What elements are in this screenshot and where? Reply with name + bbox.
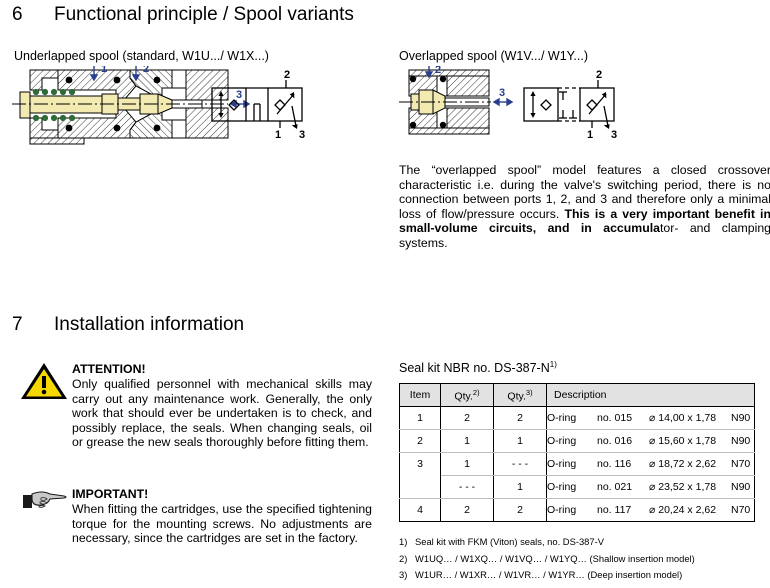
- col-item: Item: [400, 384, 441, 407]
- cell-no: no. 016: [597, 435, 649, 447]
- footnote-2-mark: 2): [399, 553, 407, 564]
- cell-no: no. 015: [597, 412, 649, 424]
- cell-qty2: 2: [441, 499, 494, 522]
- col-qty3: Qty.3): [494, 384, 547, 407]
- seal-kit-title: Seal kit NBR no. DS-387-N1): [399, 360, 557, 375]
- cell-qty3: 1: [494, 476, 547, 499]
- footnote-3: 3)W1UR… / W1XR… / W1VR… / W1YR… (Deep in…: [399, 569, 770, 586]
- symbol-callout-1-right: 1: [587, 129, 593, 141]
- cell-description: O-ringno. 015⌀ 14,00 x 1,78N90: [547, 407, 755, 430]
- cell-qty2: 1: [441, 430, 494, 453]
- table-row: 3 1 - - - O-ringno. 116⌀ 18,72 x 2,62N70: [400, 453, 755, 476]
- attention-title: ATTENTION!: [72, 362, 372, 377]
- cell-item: 1: [400, 407, 441, 430]
- footnote-2-text: W1UQ… / W1XQ… / W1VQ… / W1YQ… (Shallow i…: [415, 553, 695, 564]
- col-qty2-label: Qty.: [454, 390, 472, 402]
- col-qty2: Qty.2): [441, 384, 494, 407]
- cell-item: 2: [400, 430, 441, 453]
- document-page: 6 Functional principle / Spool variants …: [0, 0, 770, 588]
- cell-mat: N70: [731, 458, 750, 470]
- table-header-row: Item Qty.2) Qty.3) Description: [400, 384, 755, 407]
- underlapped-spool-drawing: 1 2 3 2 1: [12, 66, 332, 158]
- cell-description: O-ringno. 116⌀ 18,72 x 2,62N70: [547, 453, 755, 476]
- seal-kit-footnotes: 1)Seal kit with FKM (Viton) seals, no. D…: [399, 536, 770, 586]
- important-block: IMPORTANT! When fitting the cartridges, …: [72, 487, 372, 546]
- cell-no: no. 117: [597, 504, 649, 516]
- hydraulic-symbol-overlapped: [524, 80, 614, 129]
- spool-yellow-part: [20, 92, 202, 118]
- col-description: Description: [547, 384, 755, 407]
- cell-no: no. 116: [597, 458, 649, 470]
- table-row: 2 1 1 O-ringno. 016⌀ 15,60 x 1,78N90: [400, 430, 755, 453]
- overlapped-spool-caption: Overlapped spool (W1V.../ W1Y...): [399, 49, 588, 63]
- cell-mat: N90: [731, 435, 750, 447]
- pointing-hand-icon: [22, 487, 70, 515]
- seal-kit-table-body: 1 2 2 O-ringno. 015⌀ 14,00 x 1,78N90 2 1…: [400, 407, 755, 522]
- callout-3-left: 3: [236, 89, 242, 101]
- cell-dim: ⌀ 20,24 x 2,62: [649, 504, 731, 516]
- symbol-callout-3-left: 3: [299, 129, 305, 141]
- seal-kit-title-text: Seal kit NBR no. DS-387-N: [399, 361, 550, 375]
- cell-mat: N90: [731, 412, 750, 424]
- col-qty3-label: Qty.: [507, 390, 525, 402]
- warning-triangle-icon: [19, 361, 69, 401]
- cell-item: 3: [400, 453, 441, 476]
- cell-qty3: 2: [494, 407, 547, 430]
- cell-qty3: - - -: [494, 453, 547, 476]
- cell-description: O-ringno. 021⌀ 23,52 x 1,78N90: [547, 476, 755, 499]
- callout-3-right: 3: [499, 87, 505, 99]
- cell-dim: ⌀ 23,52 x 1,78: [649, 481, 731, 493]
- important-title: IMPORTANT!: [72, 487, 372, 502]
- cell-qty3: 2: [494, 499, 547, 522]
- callout-2-right: 2: [435, 66, 441, 76]
- section-6-heading: 6 Functional principle / Spool variants: [12, 4, 354, 26]
- footnote-1-mark: 1): [399, 536, 407, 547]
- cell-mat: N90: [731, 481, 750, 493]
- section-7-title: Installation information: [54, 314, 244, 336]
- table-row: - - - 1 O-ringno. 021⌀ 23,52 x 1,78N90: [400, 476, 755, 499]
- cell-type: O-ring: [547, 504, 597, 516]
- cell-qty2: 1: [441, 453, 494, 476]
- symbol-callout-3-right: 3: [611, 129, 617, 141]
- overlapped-spool-drawing: 2 3 2 1 3: [399, 66, 629, 158]
- footnote-1: 1)Seal kit with FKM (Viton) seals, no. D…: [399, 536, 770, 553]
- section-6-title: Functional principle / Spool variants: [54, 4, 354, 26]
- col-qty2-footnote: 2): [473, 388, 480, 397]
- attention-body: Only qualified personnel with mechanical…: [72, 377, 372, 450]
- col-description-label: Description: [554, 389, 607, 401]
- cell-type: O-ring: [547, 481, 597, 493]
- section-6-number: 6: [12, 4, 54, 26]
- table-row: 1 2 2 O-ringno. 015⌀ 14,00 x 1,78N90: [400, 407, 755, 430]
- section-7-heading: 7 Installation information: [12, 314, 244, 336]
- cell-no: no. 021: [597, 481, 649, 493]
- footnote-2: 2)W1UQ… / W1XQ… / W1VQ… / W1YQ… (Shallow…: [399, 553, 770, 570]
- callout-1-left: 1: [101, 66, 107, 75]
- cell-qty2: - - -: [441, 476, 494, 499]
- cell-description: O-ringno. 117⌀ 20,24 x 2,62N70: [547, 499, 755, 522]
- seal-kit-table: Item Qty.2) Qty.3) Description 1 2 2 O-r…: [399, 383, 755, 522]
- footnote-1-text: Seal kit with FKM (Viton) seals, no. DS-…: [415, 536, 604, 547]
- underlapped-spool-caption: Underlapped spool (standard, W1U.../ W1X…: [14, 49, 269, 63]
- cell-dim: ⌀ 18,72 x 2,62: [649, 458, 731, 470]
- col-item-label: Item: [410, 389, 430, 401]
- cell-mat: N70: [731, 504, 750, 516]
- callout-2-left: 2: [143, 66, 149, 75]
- table-row: 4 2 2 O-ringno. 117⌀ 20,24 x 2,62N70: [400, 499, 755, 522]
- cell-description: O-ringno. 016⌀ 15,60 x 1,78N90: [547, 430, 755, 453]
- cell-item: 4: [400, 499, 441, 522]
- seal-kit-table-head: Item Qty.2) Qty.3) Description: [400, 384, 755, 407]
- col-qty3-footnote: 3): [526, 388, 533, 397]
- symbol-callout-2-left: 2: [284, 69, 290, 81]
- seal-kit-title-footnote: 1): [550, 360, 557, 369]
- cell-dim: ⌀ 15,60 x 1,78: [649, 435, 731, 447]
- attention-block: ATTENTION! Only qualified personnel with…: [72, 362, 372, 450]
- cell-type: O-ring: [547, 435, 597, 447]
- cell-qty3: 1: [494, 430, 547, 453]
- important-body: When fitting the cartridges, use the spe…: [72, 502, 372, 546]
- symbol-callout-1-left: 1: [275, 129, 281, 141]
- overlapped-spool-description: The “overlapped spool” model features a …: [399, 163, 770, 251]
- cell-type: O-ring: [547, 412, 597, 424]
- cell-type: O-ring: [547, 458, 597, 470]
- footnote-3-mark: 3): [399, 569, 407, 580]
- cell-item: [400, 476, 441, 499]
- cell-dim: ⌀ 14,00 x 1,78: [649, 412, 731, 424]
- footnote-3-text: W1UR… / W1XR… / W1VR… / W1YR… (Deep inse…: [415, 569, 682, 580]
- symbol-callout-2-right: 2: [596, 69, 602, 81]
- section-7-number: 7: [12, 314, 54, 336]
- cell-qty2: 2: [441, 407, 494, 430]
